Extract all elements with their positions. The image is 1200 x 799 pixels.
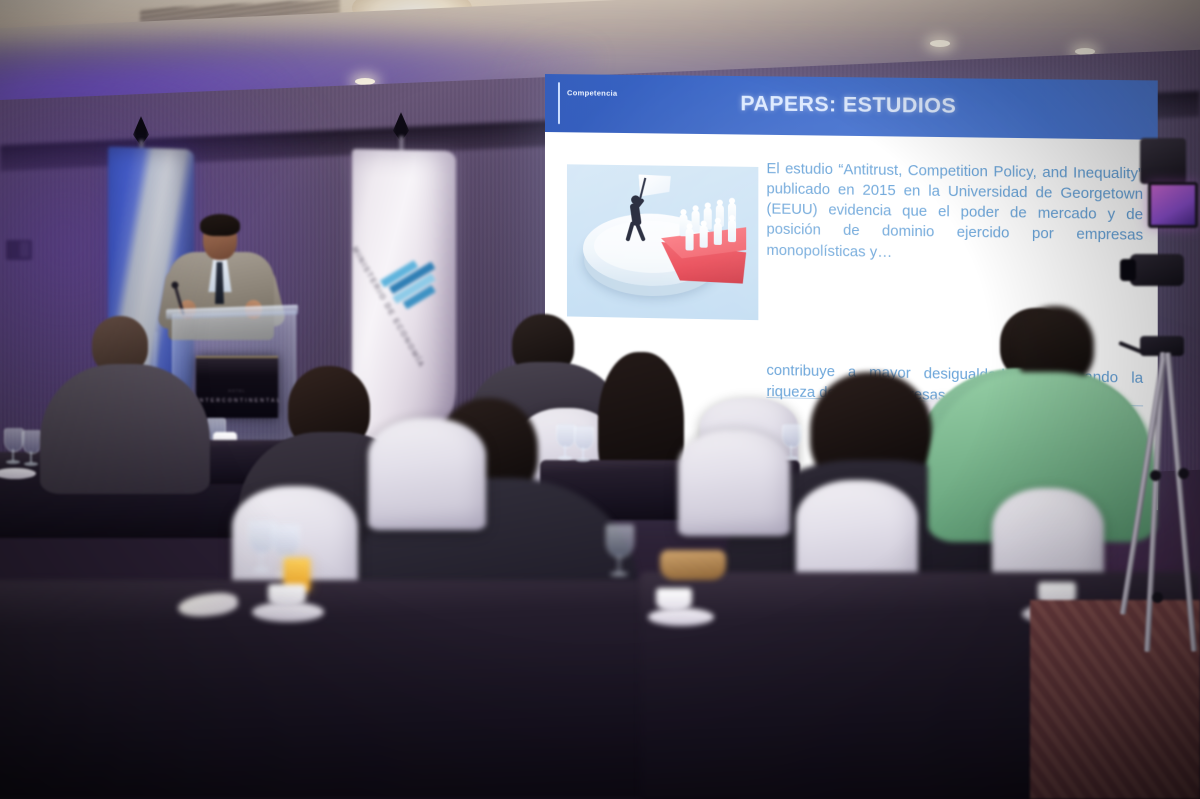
tripod-lock-knob[interactable]	[1152, 592, 1163, 603]
flag-bearer-figure-icon	[619, 181, 659, 244]
crowd-figure-icon	[728, 220, 736, 242]
slide-paragraph-1: El estudio “Antitrust, Competition Polic…	[766, 159, 1143, 267]
podium-sign-sub: HOTEL	[196, 389, 278, 393]
chair	[368, 418, 486, 530]
shoulders	[40, 364, 210, 494]
pie-chart-illustration	[567, 164, 758, 320]
wine-glass	[606, 524, 632, 580]
wine-glass	[556, 424, 574, 462]
slide-header-band: Competencia PAPERS: ESTUDIOS	[545, 74, 1158, 140]
camera-body	[1140, 138, 1186, 184]
tripod-lock-knob[interactable]	[1178, 468, 1189, 479]
coffee-cup	[268, 584, 306, 608]
carpet	[1030, 600, 1200, 799]
table	[0, 580, 740, 799]
camera-lcd-screen	[1148, 182, 1198, 228]
wine-glass	[574, 426, 592, 464]
crowd-figure-icon	[686, 228, 694, 250]
speaker-hair	[200, 214, 240, 236]
bread-basket	[660, 550, 726, 580]
chair	[678, 430, 790, 536]
wine-glass	[248, 520, 274, 576]
crowd-figure-icon	[714, 223, 722, 245]
wine-glass	[4, 428, 22, 466]
podium-sign-text: INTERCONTINENTAL	[196, 398, 278, 404]
crowd-figure-icon	[700, 225, 708, 247]
conference-photo-scene: MINISTERIO DE ECONOMÍA Competencia PAPER…	[0, 0, 1200, 799]
slide-title: PAPERS: ESTUDIOS	[545, 90, 1158, 121]
wine-glass	[22, 430, 40, 468]
recessed-spot-icon	[930, 40, 950, 47]
tripod-lock-knob[interactable]	[1150, 470, 1161, 481]
camera-lens	[1130, 254, 1184, 286]
podium-sign: HOTEL INTERCONTINENTAL	[196, 356, 278, 418]
coffee-cup	[656, 588, 692, 612]
